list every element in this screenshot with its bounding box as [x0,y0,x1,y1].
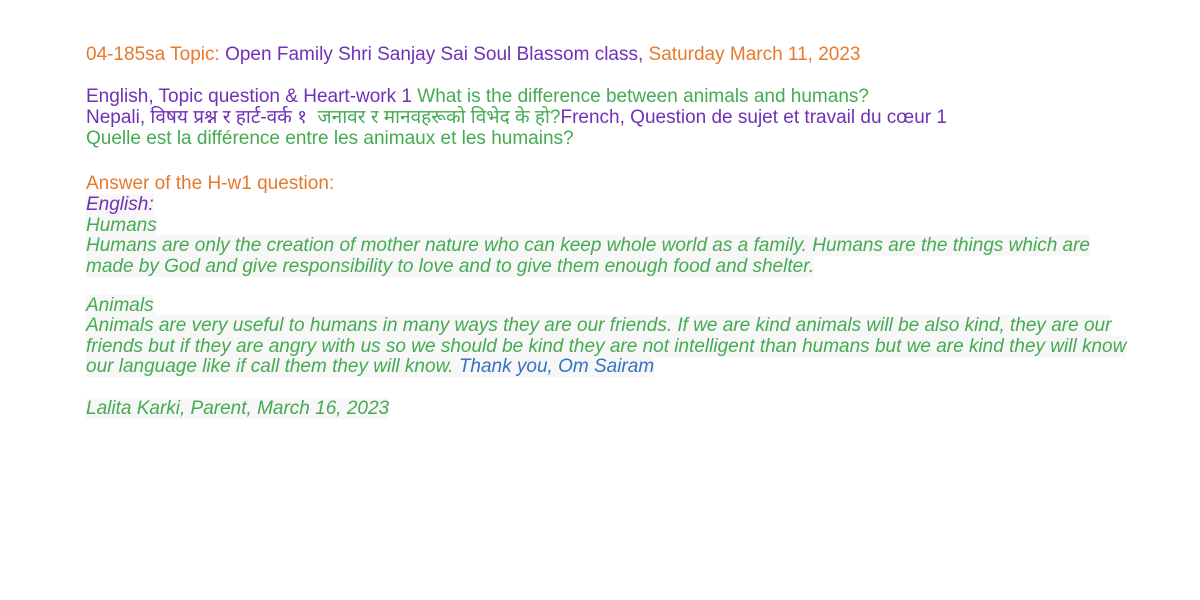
paragraph-spacer-1 [86,277,1130,295]
paragraph-spacer-2 [86,378,1130,398]
humans-heading-text: Humans [86,215,157,236]
humans-paragraph: Humans are only the creation of mother n… [86,236,1130,277]
english-question: What is the difference between animals a… [417,86,869,107]
title-block: 04-185sa Topic: Open Family Shri Sanjay … [86,44,1130,65]
signature-line: Lalita Karki, Parent, March 16, 2023 [86,398,1130,419]
document-page: 04-185sa Topic: Open Family Shri Sanjay … [0,0,1200,600]
animals-heading: Animals [86,295,1130,316]
french-question: Quelle est la différence entre les anima… [86,128,574,149]
language-label-text: English: [86,194,154,215]
answer-block: Answer of the H-w1 question: English: Hu… [86,173,1130,419]
document-topic: Open Family Shri Sanjay Sai Soul Blassom… [220,44,643,65]
french-label: French, Question de sujet et travail du … [560,107,947,128]
question-block: English, Topic question & Heart-work 1 W… [86,86,1130,149]
answer-heading-text: Answer of the H-w1 question: [86,173,334,194]
humans-paragraph-text: Humans are only the creation of mother n… [86,235,1090,277]
nepali-label: Nepali, विषय प्रश्न र हार्ट-वर्क १ [86,107,318,128]
animals-paragraph: Animals are very useful to humans in man… [86,316,1130,378]
question-line-french: Quelle est la différence entre les anima… [86,128,1130,149]
signature-text: Lalita Karki, Parent, March 16, 2023 [86,398,389,419]
title-line: 04-185sa Topic: Open Family Shri Sanjay … [86,44,1130,65]
document-code: 04-185sa Topic: [86,44,220,65]
question-line-english: English, Topic question & Heart-work 1 W… [86,86,1130,107]
english-label: English, Topic question & Heart-work 1 [86,86,417,107]
answer-language-label: English: [86,194,1130,215]
question-line-nepali: Nepali, विषय प्रश्न र हार्ट-वर्क १ जनावर… [86,107,1130,128]
humans-heading: Humans [86,215,1130,236]
animals-heading-text: Animals [86,295,154,316]
nepali-question: जनावर र मानवहरूको विभेद के हो? [318,107,561,128]
document-date: Saturday March 11, 2023 [643,44,860,65]
closing-salutation: Thank you, Om Sairam [459,356,654,377]
answer-heading: Answer of the H-w1 question: [86,173,1130,194]
